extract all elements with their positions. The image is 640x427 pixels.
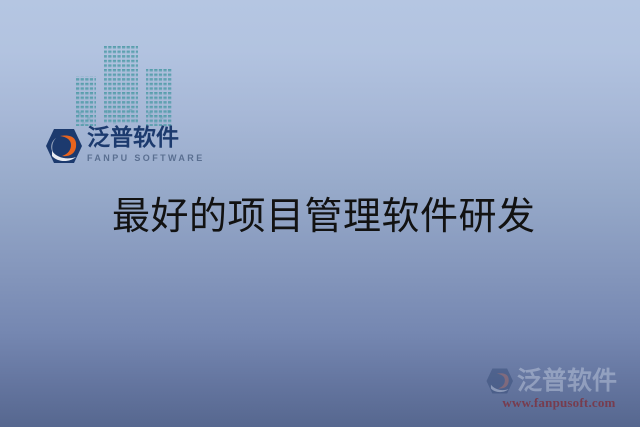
fanpu-logo: 泛普软件 FANPU SOFTWARE (43, 126, 205, 165)
watermark: 泛普软件 www.fanpusoft.com (484, 367, 634, 415)
watermark-company-name-cn: 泛普软件 (517, 367, 617, 395)
promo-banner: 泛普软件 FANPU SOFTWARE 最好的项目管理软件研发 泛普软件 www… (0, 0, 640, 427)
logo-company-name-cn: 泛普软件 (87, 126, 205, 151)
page-title: 最好的项目管理软件研发 (112, 192, 536, 240)
watermark-fanpu-logo-icon (484, 367, 514, 395)
logo-company-name-en: FANPU SOFTWARE (87, 152, 205, 164)
watermark-logo-row: 泛普软件 (484, 367, 634, 395)
fanpu-hexagon-swoosh-logo-icon (43, 127, 83, 165)
pixel-mosaic-city-skyline (76, 46, 188, 132)
watermark-url: www.fanpusoft.com (484, 395, 634, 411)
